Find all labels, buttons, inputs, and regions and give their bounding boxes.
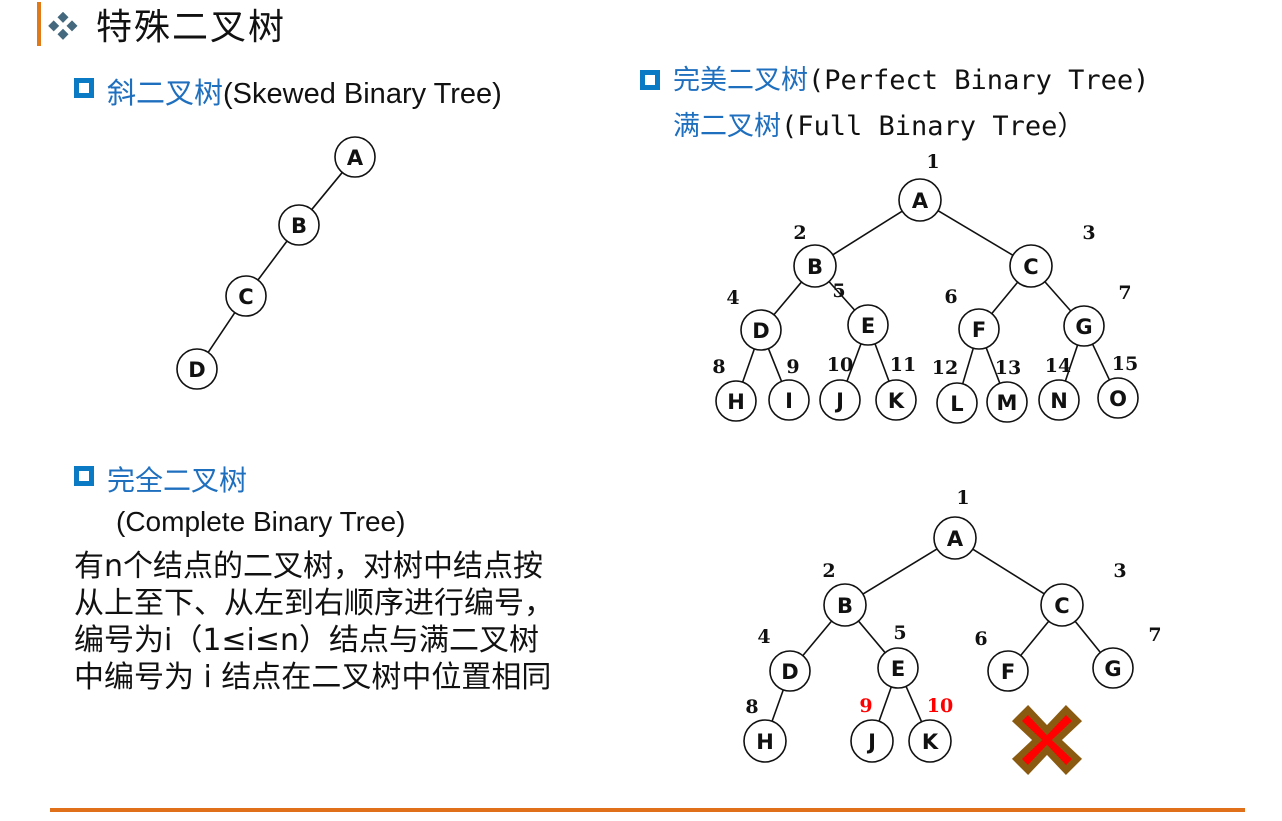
- node-index-label: 4: [757, 626, 770, 648]
- tree-node-label: B: [837, 594, 853, 618]
- node-index-label: 10: [927, 695, 953, 717]
- tree-node-label: H: [756, 730, 774, 754]
- tree-edge: [973, 549, 1044, 594]
- tree-node[interactable]: H: [744, 720, 786, 762]
- red-cross-mark: [1017, 710, 1077, 770]
- tree-edge: [772, 690, 783, 721]
- node-index-label: 2: [822, 560, 835, 582]
- tree-node-label: A: [947, 527, 964, 551]
- tree-node[interactable]: K: [909, 720, 951, 762]
- slide-canvas: 特殊二叉树 斜二叉树(Skewed Binary Tree) 完美二叉树(Per…: [0, 0, 1282, 821]
- tree-node-label: C: [1054, 594, 1069, 618]
- tree-node[interactable]: B: [824, 584, 866, 626]
- tree-node[interactable]: J: [851, 720, 893, 762]
- tree-edge: [1075, 621, 1100, 652]
- tree-edge: [803, 621, 832, 656]
- tree-node[interactable]: A: [934, 517, 976, 559]
- tree-node-label: D: [781, 660, 798, 684]
- footer-rule: [50, 808, 1245, 812]
- tree-edge: [1021, 621, 1049, 655]
- node-index-label: 3: [1113, 560, 1126, 582]
- node-index-label: 7: [1148, 624, 1161, 646]
- tree-node[interactable]: D: [770, 651, 810, 691]
- node-index-label: 1: [956, 487, 969, 509]
- cross-mark-icon: [1017, 710, 1077, 770]
- tree-node-label: G: [1104, 657, 1121, 681]
- tree-edge: [879, 687, 891, 721]
- tree-node[interactable]: G: [1093, 648, 1133, 688]
- complete-binary-tree-diagram: 1A2B3C4D5E6F7G8H9J10K: [0, 0, 1282, 821]
- tree-node[interactable]: E: [878, 648, 918, 688]
- tree-node[interactable]: F: [988, 651, 1028, 691]
- node-index-label: 9: [859, 695, 872, 717]
- tree-node-label: K: [922, 730, 939, 754]
- tree-node-label: E: [891, 657, 905, 681]
- tree-edge: [859, 621, 886, 653]
- tree-edge: [863, 549, 937, 594]
- tree-edge: [906, 686, 922, 721]
- tree-node[interactable]: C: [1041, 584, 1083, 626]
- node-index-label: 6: [974, 628, 987, 650]
- node-index-label: 8: [745, 696, 758, 718]
- tree-node-label: J: [866, 730, 876, 754]
- tree-node-label: F: [1001, 660, 1015, 684]
- node-index-label: 5: [893, 622, 906, 644]
